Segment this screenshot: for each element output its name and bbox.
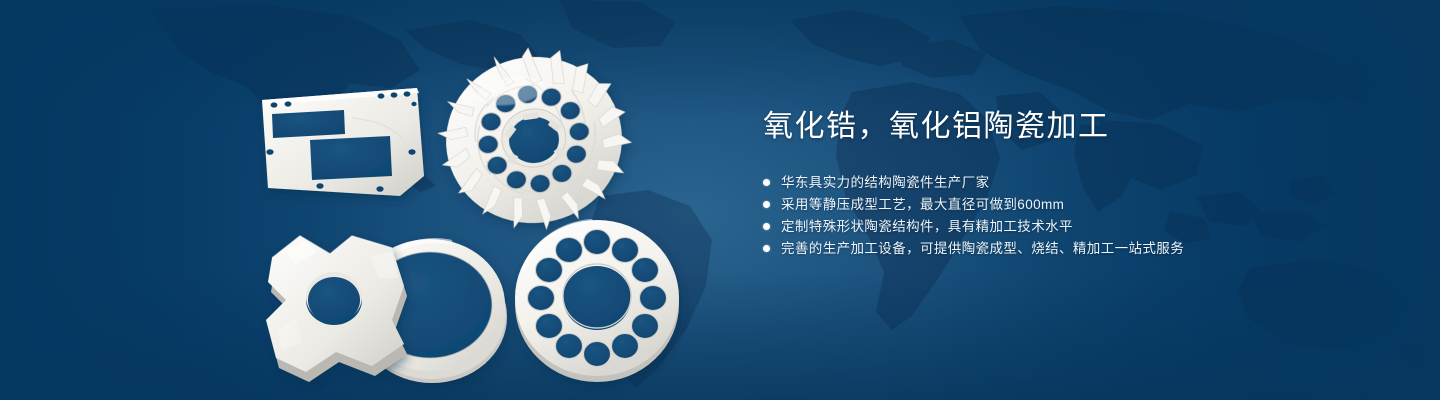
list-item: 采用等静压成型工艺，最大直径可做到600mm xyxy=(763,194,1323,216)
list-item-label: 完善的生产加工设备，可提供陶瓷成型、烧结、精加工一站式服务 xyxy=(781,238,1184,260)
ceramic-cross-shaped-part xyxy=(266,236,407,382)
bullet-dot-icon xyxy=(763,245,770,252)
ceramic-flat-plate xyxy=(262,88,424,196)
list-item-label: 采用等静压成型工艺，最大直径可做到600mm xyxy=(781,194,1064,216)
ceramic-perforated-ring-plate xyxy=(515,220,679,382)
product-banner: 氧化锆，氧化铝陶瓷加工 华东具实力的结构陶瓷件生产厂家 采用等静压成型工艺，最大… xyxy=(0,0,1440,400)
list-item: 定制特殊形状陶瓷结构件，具有精加工技术水平 xyxy=(763,216,1323,238)
bullet-dot-icon xyxy=(763,179,770,186)
list-item-label: 定制特殊形状陶瓷结构件，具有精加工技术水平 xyxy=(781,216,1073,238)
banner-copy: 氧化锆，氧化铝陶瓷加工 华东具实力的结构陶瓷件生产厂家 采用等静压成型工艺，最大… xyxy=(763,108,1323,260)
list-item-label: 华东具实力的结构陶瓷件生产厂家 xyxy=(781,172,990,194)
bullet-dot-icon xyxy=(763,201,770,208)
feature-list: 华东具实力的结构陶瓷件生产厂家 采用等静压成型工艺，最大直径可做到600mm 定… xyxy=(763,172,1323,260)
bullet-dot-icon xyxy=(763,223,770,230)
product-photo-group xyxy=(0,0,740,400)
list-item: 完善的生产加工设备，可提供陶瓷成型、烧结、精加工一站式服务 xyxy=(763,238,1323,260)
list-item: 华东具实力的结构陶瓷件生产厂家 xyxy=(763,172,1323,194)
ceramic-vaned-impeller-disc xyxy=(428,36,641,243)
page-title: 氧化锆，氧化铝陶瓷加工 xyxy=(763,108,1323,146)
